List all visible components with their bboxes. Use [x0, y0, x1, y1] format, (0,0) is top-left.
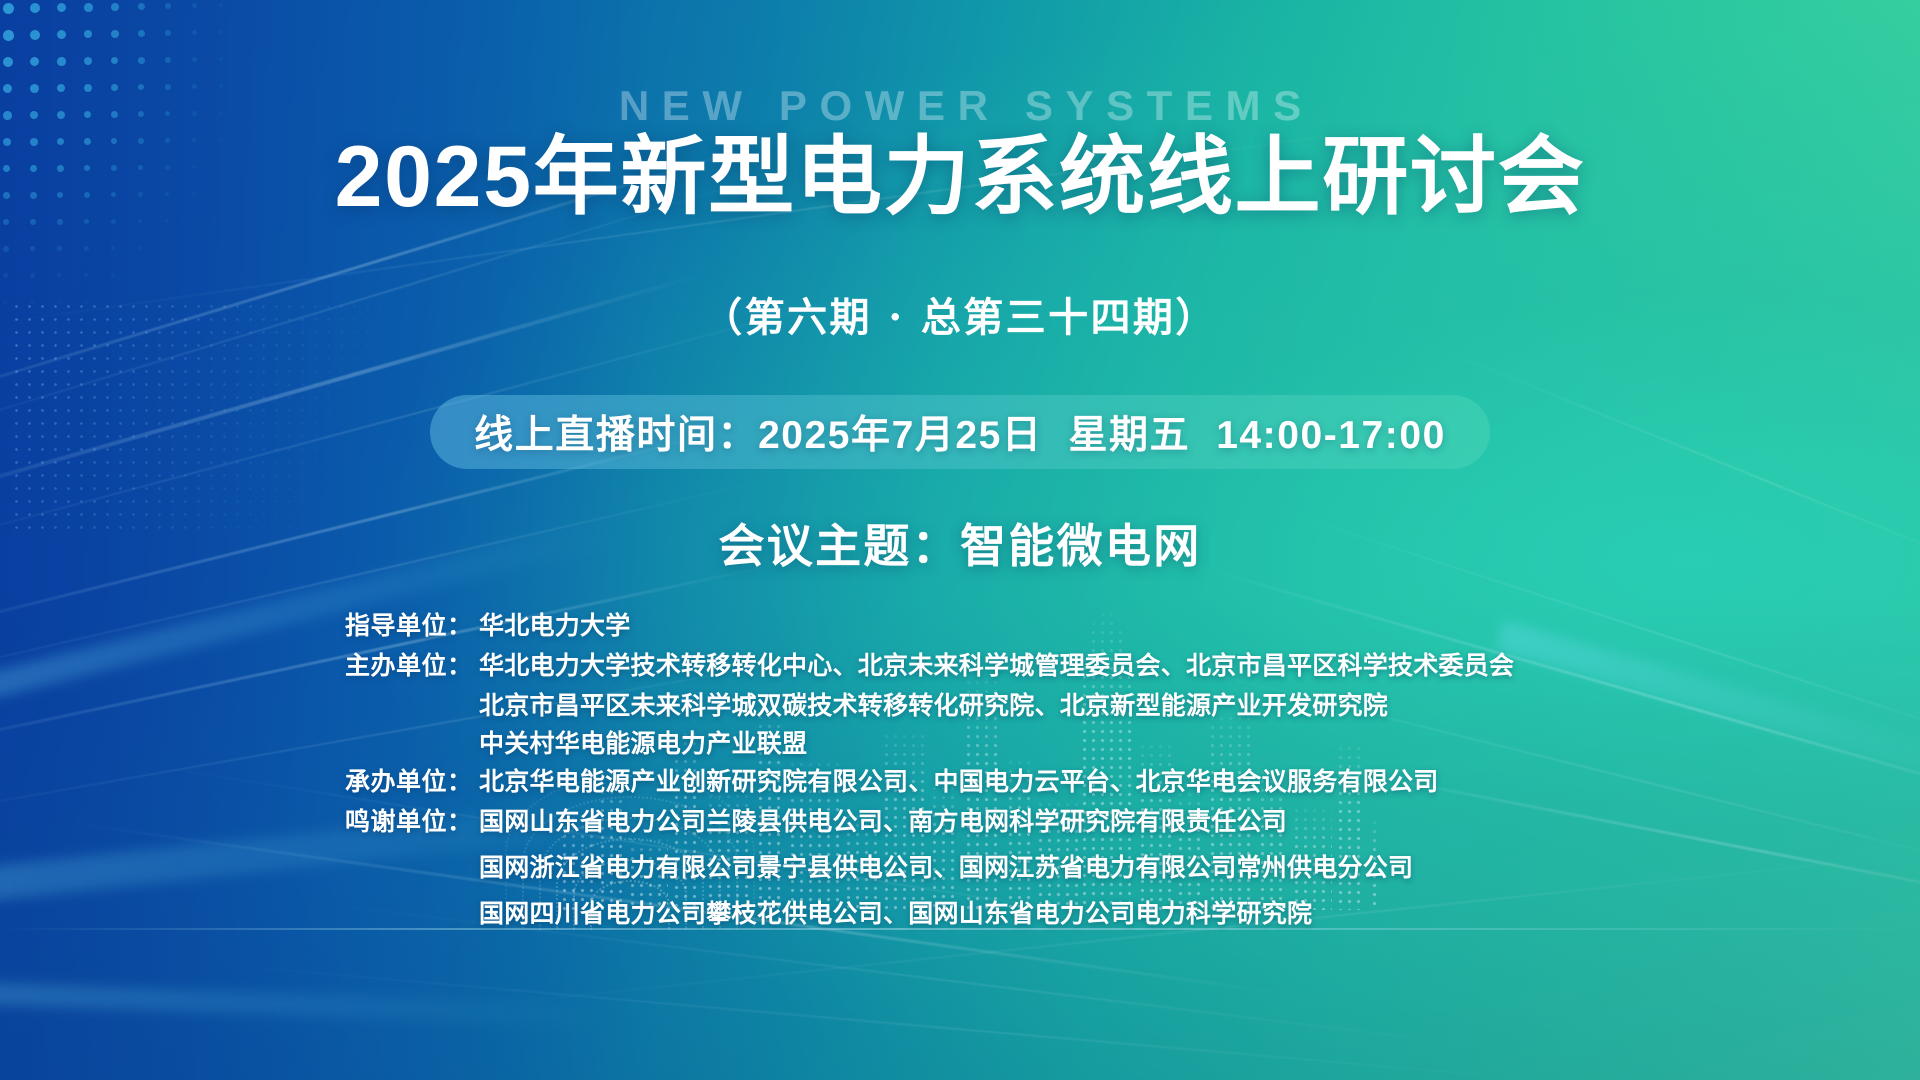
organizer-value: 国网山东省电力公司兰陵县供电公司、南方电网科学研究院有限责任公司 — [479, 802, 1665, 838]
english-kicker: NEW POWER SYSTEMS — [0, 82, 1920, 130]
organizer-value: 华北电力大学 — [479, 606, 1665, 642]
organizer-row: 鸣谢单位：国网山东省电力公司兰陵县供电公司、南方电网科学研究院有限责任公司 — [345, 802, 1665, 838]
organizer-row: 主办单位：北京市昌平区未来科学城双碳技术转移转化研究院、北京新型能源产业开发研究… — [345, 686, 1665, 722]
live-time-label: 线上直播时间： — [474, 414, 758, 457]
live-time-banner: 线上直播时间：2025年7月25日星期五14:00-17:00 — [430, 395, 1490, 469]
poster-root: NEW POWER SYSTEMS 2025年新型电力系统线上研讨会 （第六期 … — [0, 0, 1920, 1080]
organizer-label: 鸣谢单位： — [345, 802, 479, 838]
page-title: 2025年新型电力系统线上研讨会 — [0, 130, 1920, 225]
organizer-value: 国网浙江省电力有限公司景宁县供电公司、国网江苏省电力有限公司常州供电分公司 — [479, 848, 1665, 884]
conference-topic: 会议主题：智能微电网 — [0, 510, 1920, 576]
organizer-label: 指导单位： — [345, 606, 479, 642]
organizer-value: 华北电力大学技术转移转化中心、北京未来科学城管理委员会、北京市昌平区科学技术委员… — [479, 646, 1665, 682]
organizer-value: 中关村华电能源电力产业联盟 — [479, 724, 1665, 760]
live-time-text: 线上直播时间：2025年7月25日星期五14:00-17:00 — [474, 404, 1446, 460]
organizer-row: 主办单位：中关村华电能源电力产业联盟 — [345, 724, 1665, 760]
organizer-label: 承办单位： — [345, 762, 479, 798]
organizer-row: 主办单位：华北电力大学技术转移转化中心、北京未来科学城管理委员会、北京市昌平区科… — [345, 646, 1665, 682]
organizer-value: 北京市昌平区未来科学城双碳技术转移转化研究院、北京新型能源产业开发研究院 — [479, 686, 1665, 722]
organizer-value: 北京华电能源产业创新研究院有限公司、中国电力云平台、北京华电会议服务有限公司 — [479, 762, 1665, 798]
poster-content: NEW POWER SYSTEMS 2025年新型电力系统线上研讨会 （第六期 … — [0, 0, 1920, 1080]
organizer-value: 国网四川省电力公司攀枝花供电公司、国网山东省电力公司电力科学研究院 — [479, 894, 1665, 930]
live-time-range: 14:00-17:00 — [1216, 414, 1446, 457]
organizer-row: 鸣谢单位：国网四川省电力公司攀枝花供电公司、国网山东省电力公司电力科学研究院 — [345, 894, 1665, 930]
page-subtitle: （第六期 · 总第三十四期） — [0, 285, 1920, 343]
live-time-weekday: 星期五 — [1069, 414, 1191, 457]
live-time-date: 2025年7月25日 — [758, 414, 1042, 457]
organizer-row: 指导单位：华北电力大学 — [345, 606, 1665, 642]
organizer-row: 鸣谢单位：国网浙江省电力有限公司景宁县供电公司、国网江苏省电力有限公司常州供电分… — [345, 848, 1665, 884]
organizer-label: 主办单位： — [345, 646, 479, 682]
organizer-row: 承办单位：北京华电能源产业创新研究院有限公司、中国电力云平台、北京华电会议服务有… — [345, 762, 1665, 798]
organizer-list: 指导单位：华北电力大学主办单位：华北电力大学技术转移转化中心、北京未来科学城管理… — [345, 606, 1665, 932]
